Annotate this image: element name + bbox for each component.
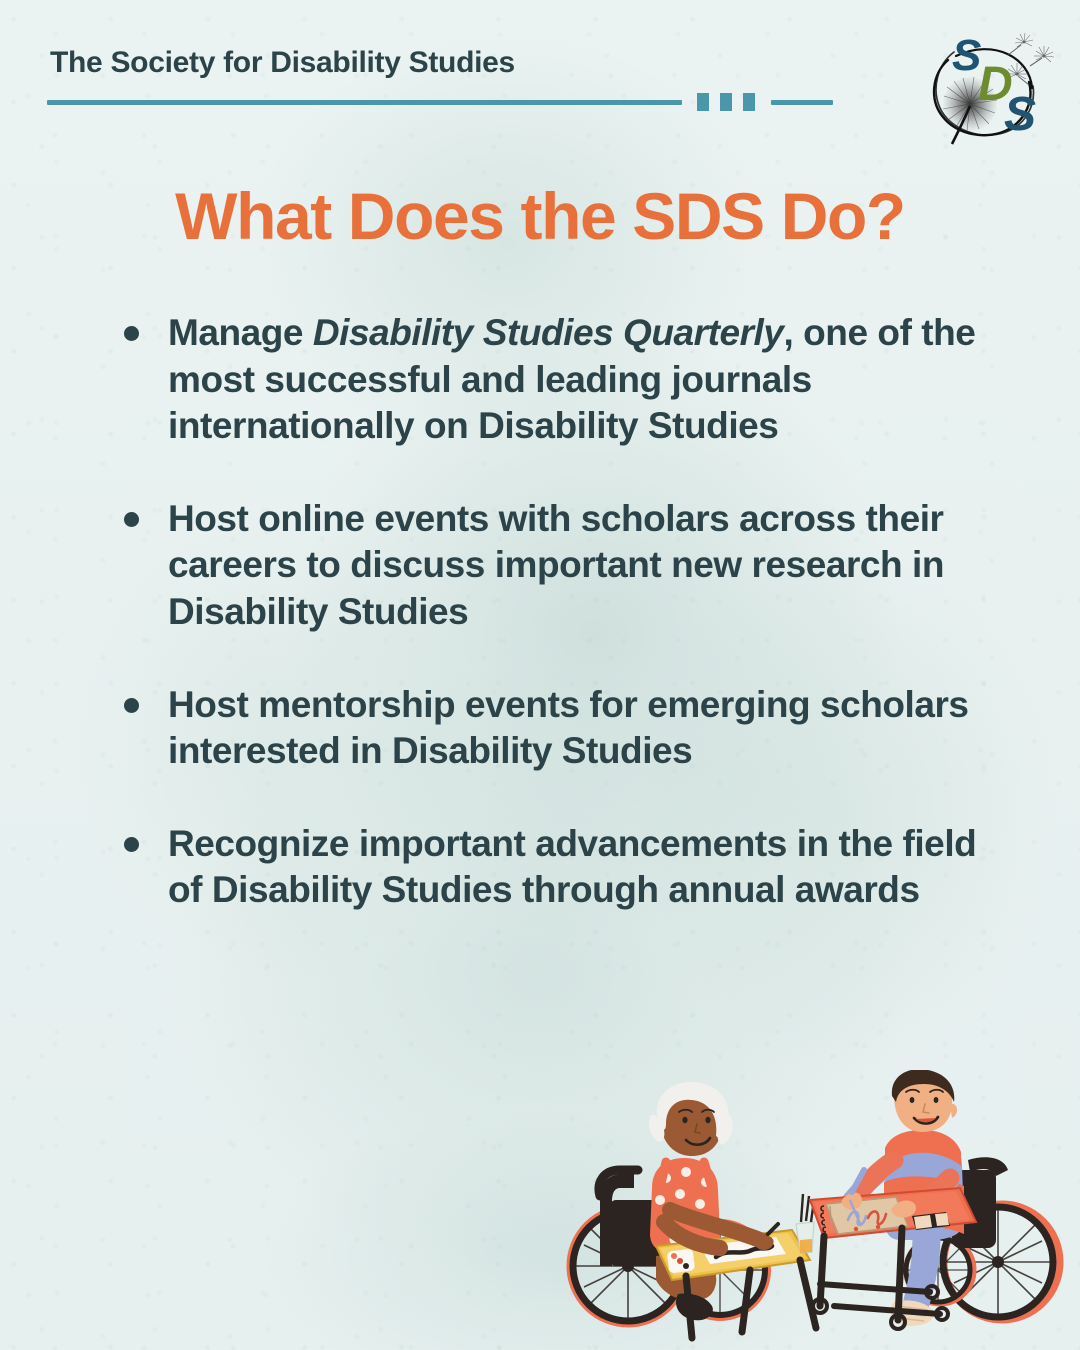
bullet-dot-icon xyxy=(124,698,139,713)
bullet-item-recognize-advancements: Recognize important advancements in the … xyxy=(118,821,998,914)
bullet-text: Host online events with scholars across … xyxy=(168,498,944,632)
illustration-two-wheelchair-users xyxy=(560,1070,1080,1350)
divider-dash xyxy=(720,93,732,111)
divider-short-line xyxy=(771,100,833,105)
bullet-text: Manage Disability Studies Quarterly, one… xyxy=(168,312,975,446)
organization-name: The Society for Disability Studies xyxy=(50,46,515,80)
bullet-dot-icon xyxy=(124,512,139,527)
header-divider xyxy=(47,96,833,108)
woman-shoe xyxy=(676,1294,713,1321)
bullet-text: Recognize important advancements in the … xyxy=(168,823,976,911)
bullet-text: Host mentorship events for emerging scho… xyxy=(168,684,969,772)
bullet-item-manage-dsq: Manage Disability Studies Quarterly, one… xyxy=(118,310,998,450)
bullet-dot-icon xyxy=(124,837,139,852)
bullet-item-host-mentorship-events: Host mentorship events for emerging scho… xyxy=(118,682,998,775)
figure-boy-with-sketchbook xyxy=(810,1070,1060,1329)
bullet-item-host-online-events: Host online events with scholars across … xyxy=(118,496,998,636)
woman-head xyxy=(649,1082,733,1156)
bullet-list: Manage Disability Studies Quarterly, one… xyxy=(118,310,998,914)
bullet-dot-icon xyxy=(124,326,139,341)
divider-dash-group xyxy=(697,93,755,111)
divider-dash xyxy=(697,93,709,111)
logo-letter-s1: S xyxy=(952,31,981,80)
figure-woman-with-drawing-tablet xyxy=(570,1082,816,1338)
boy-head xyxy=(892,1070,957,1132)
logo-letter-s2: S xyxy=(1004,88,1036,141)
header: The Society for Disability Studies xyxy=(0,0,1080,170)
divider-long-line xyxy=(47,100,682,105)
divider-dash xyxy=(743,93,755,111)
page-title: What Does the SDS Do? xyxy=(0,178,1080,254)
sds-dandelion-logo: S D S xyxy=(912,22,1062,157)
poster-canvas: The Society for Disability Studies xyxy=(0,0,1080,1350)
